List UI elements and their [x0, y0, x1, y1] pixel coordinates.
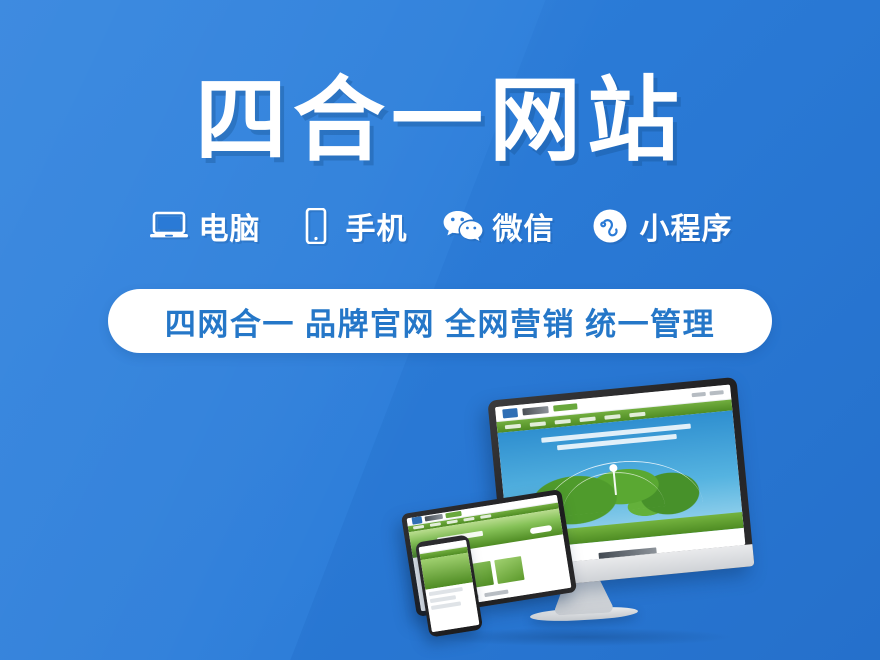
product-thumbnail — [494, 556, 524, 584]
tablet-hero-button — [530, 525, 553, 534]
slogan-text: 四网合一 品牌官网 全网营销 统一管理 — [165, 299, 715, 344]
device-mockup-group — [400, 388, 770, 650]
feature-label-mobile: 手机 — [346, 204, 408, 248]
promo-banner: 四合一网站 电脑 手机 — [0, 0, 880, 660]
feature-label-miniprogram: 小程序 — [640, 204, 733, 248]
wechat-icon — [442, 206, 484, 246]
slogan-pill: 四网合一 品牌官网 全网营销 统一管理 — [108, 289, 772, 353]
feature-label-wechat: 微信 — [493, 204, 555, 248]
laptop-icon — [148, 206, 190, 246]
page-title: 四合一网站 — [0, 72, 880, 171]
website-logo-subtext — [553, 403, 577, 411]
website-topbar-links — [692, 390, 724, 397]
feature-item-desktop: 电脑 — [148, 204, 261, 248]
website-logo-mark — [502, 408, 518, 418]
feature-item-mobile: 手机 — [295, 204, 408, 248]
platform-feature-row: 电脑 手机 微信 — [0, 204, 880, 248]
device-ground-shadow — [430, 628, 730, 646]
mini-program-icon — [589, 206, 631, 246]
feature-label-desktop: 电脑 — [199, 204, 261, 248]
smartphone-icon — [295, 206, 337, 246]
feature-item-wechat: 微信 — [442, 204, 555, 248]
phone-screen — [419, 540, 480, 632]
website-logo-text — [522, 406, 549, 415]
phone-content — [425, 582, 479, 632]
feature-item-miniprogram: 小程序 — [589, 204, 733, 248]
